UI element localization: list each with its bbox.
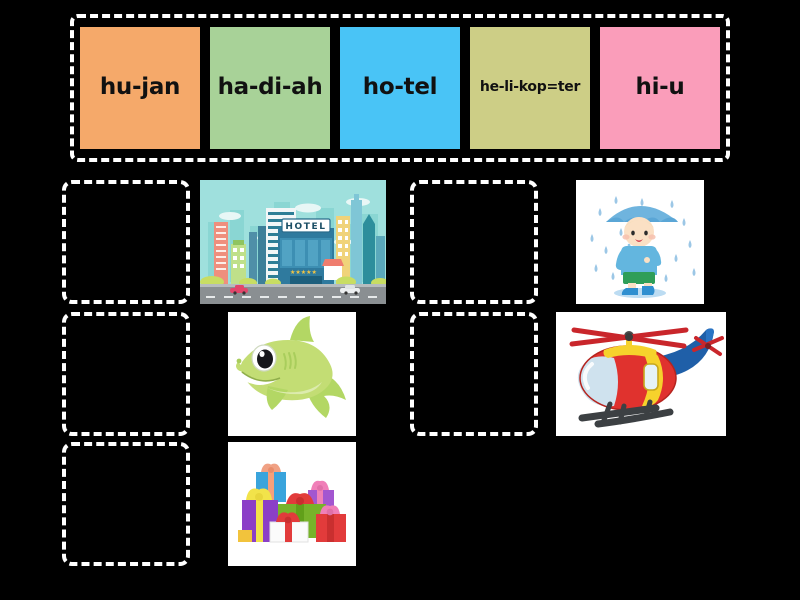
word-tile-hujan[interactable]: hu-jan bbox=[80, 27, 200, 149]
hotel-city-illustration: HOTEL ★★★★★ bbox=[200, 180, 386, 304]
hotel-sign-text: HOTEL bbox=[285, 222, 326, 232]
drop-slot-2[interactable] bbox=[410, 180, 538, 304]
picture-card-rain[interactable] bbox=[576, 180, 704, 304]
stack-of-gift-boxes-illustration bbox=[228, 442, 356, 566]
word-tile-hadiah[interactable]: ha-di-ah bbox=[210, 27, 330, 149]
picture-card-gifts[interactable] bbox=[228, 442, 356, 566]
helicopter-illustration bbox=[556, 312, 726, 436]
drop-slot-4[interactable] bbox=[410, 312, 538, 436]
boy-with-umbrella-in-rain-illustration bbox=[576, 180, 704, 304]
picture-card-shark[interactable] bbox=[228, 312, 356, 436]
word-tile-hotel[interactable]: ho-tel bbox=[340, 27, 460, 149]
picture-card-hotel[interactable]: HOTEL ★★★★★ bbox=[200, 180, 386, 304]
svg-text:★★★★★: ★★★★★ bbox=[290, 269, 317, 276]
picture-card-helicopter[interactable] bbox=[556, 312, 726, 436]
word-tile-hiu[interactable]: hi-u bbox=[600, 27, 720, 149]
activity-canvas: hu-jan ha-di-ah ho-tel he-li-kop=ter hi-… bbox=[0, 0, 800, 600]
drop-slot-3[interactable] bbox=[62, 312, 190, 436]
word-tile-helikopter[interactable]: he-li-kop=ter bbox=[470, 27, 590, 149]
drop-slot-5[interactable] bbox=[62, 442, 190, 566]
word-bank: hu-jan ha-di-ah ho-tel he-li-kop=ter hi-… bbox=[70, 14, 730, 162]
drop-slot-1[interactable] bbox=[62, 180, 190, 304]
green-shark-illustration bbox=[228, 312, 356, 436]
